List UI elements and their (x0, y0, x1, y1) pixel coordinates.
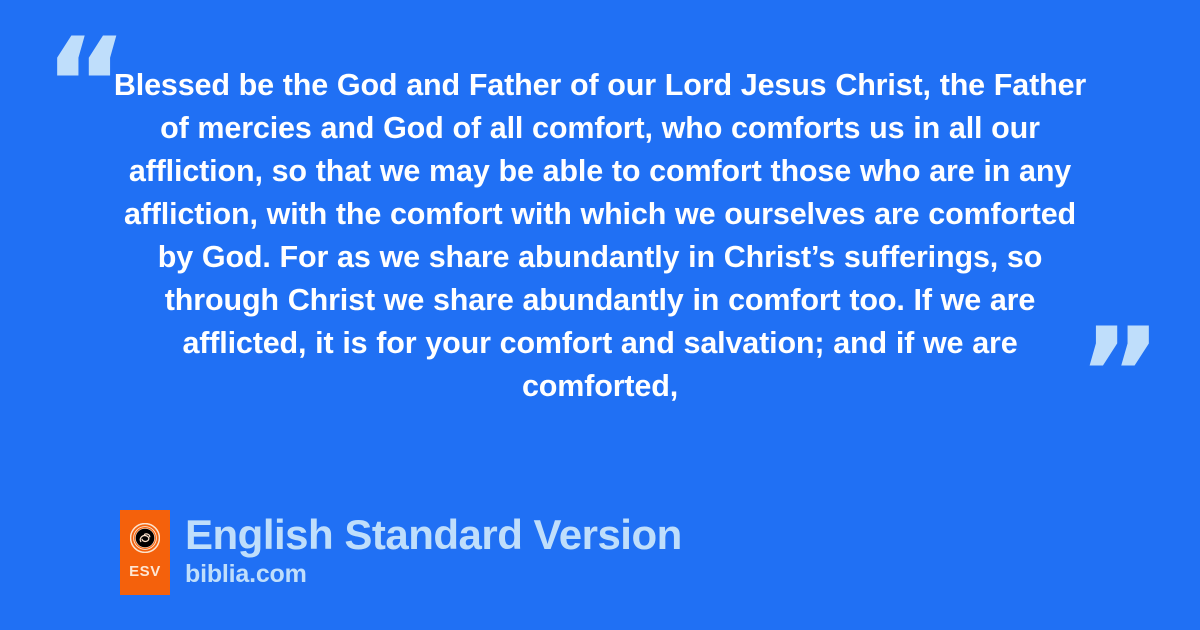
esv-seal-icon (130, 523, 160, 553)
bible-version-name: English Standard Version (185, 512, 682, 558)
quote-block: “ Blessed be the God and Father of our L… (0, 0, 1200, 470)
attribution-text: English Standard Version biblia.com (185, 510, 682, 589)
verse-text: Blessed be the God and Father of our Lor… (110, 64, 1090, 408)
site-name: biblia.com (185, 559, 682, 589)
verse-card: “ Blessed be the God and Father of our L… (0, 0, 1200, 630)
close-quote-icon: ” (1078, 312, 1162, 440)
esv-badge-label: ESV (129, 564, 161, 579)
esv-badge: ESV (120, 510, 170, 595)
attribution: ESV English Standard Version biblia.com (120, 510, 682, 595)
